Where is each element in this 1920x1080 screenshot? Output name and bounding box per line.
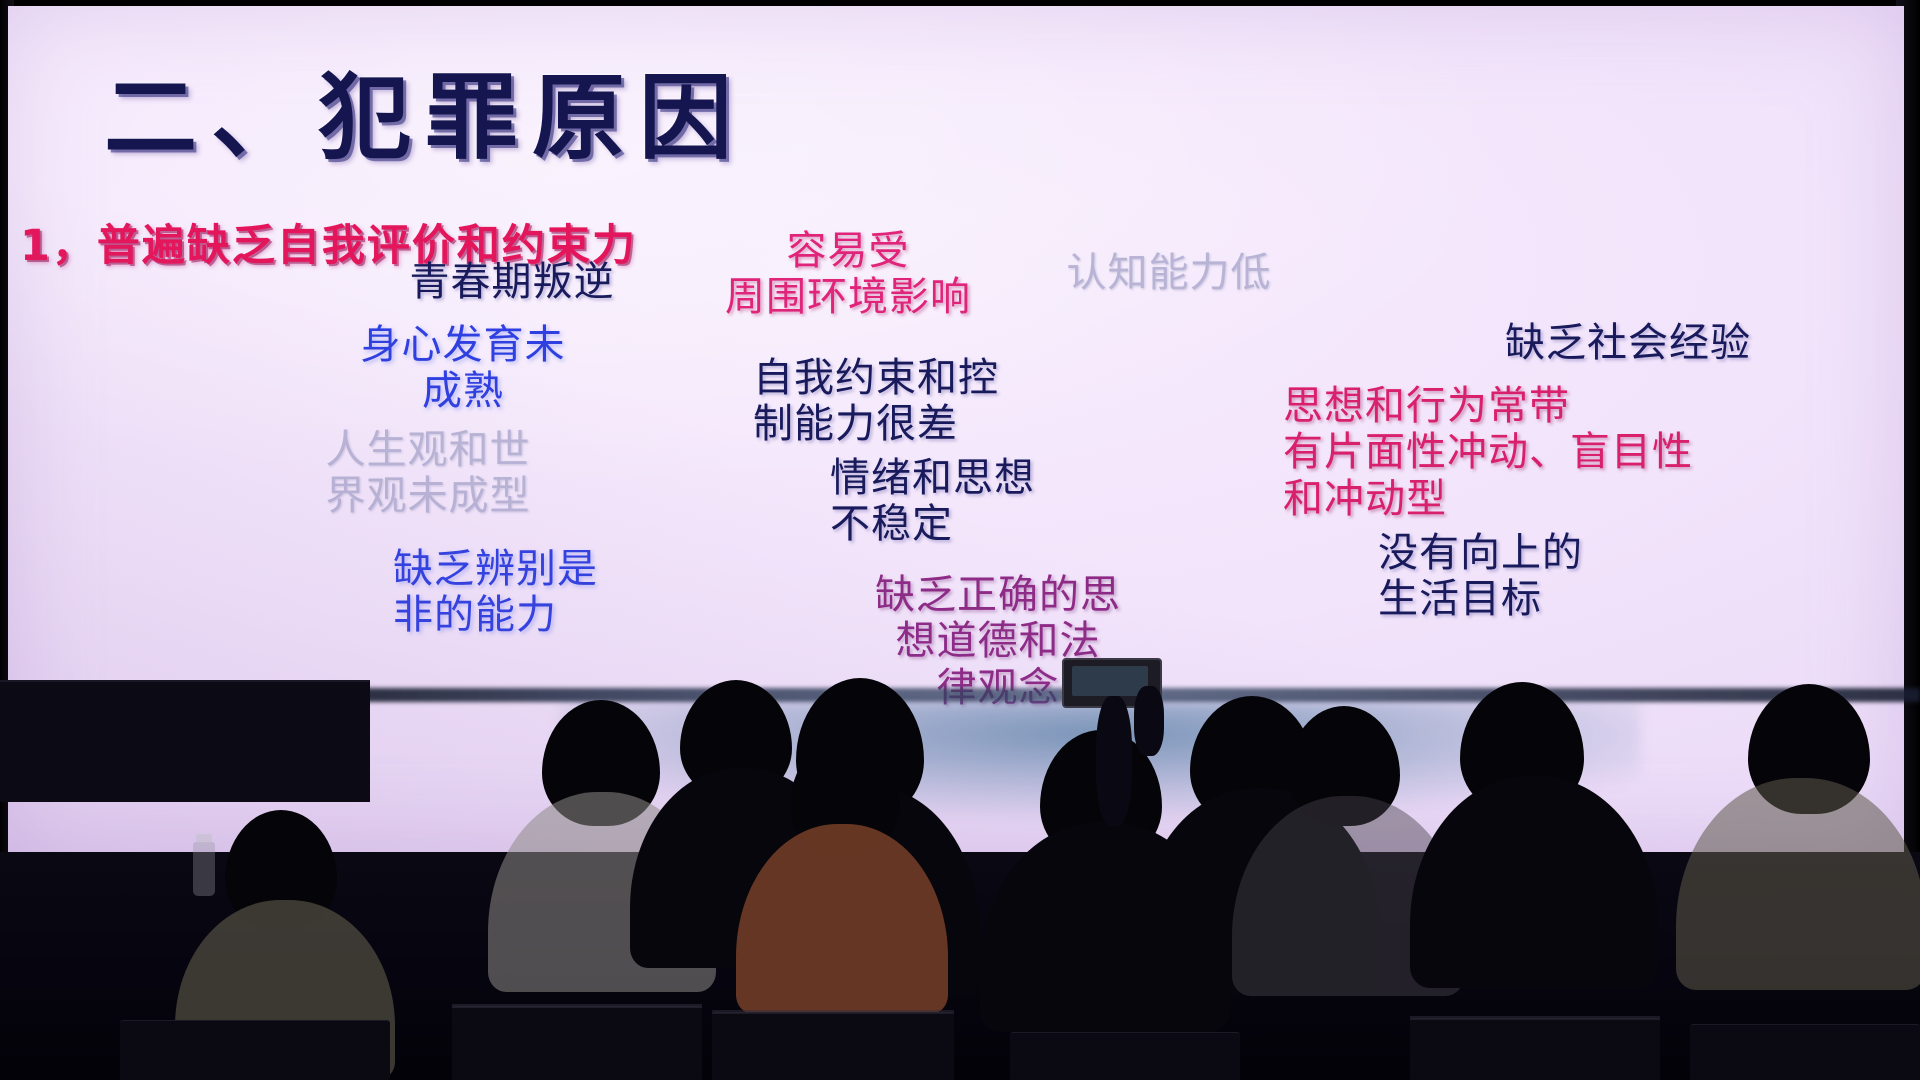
slide-item-no-life-goals: 没有向上的 生活目标: [1378, 530, 1583, 623]
chair-back: [712, 1012, 954, 1080]
slide-item-immature-development: 身心发育未 成熟: [361, 322, 566, 415]
presentation-slide: 二、犯罪原因 1，普遍缺乏自我评价和约束力 青春期叛逆 容易受 周围环境影响 认…: [8, 6, 1904, 854]
chair-back: [1690, 1024, 1920, 1080]
chair-back: [1410, 1018, 1660, 1080]
slide-item-cannot-distinguish-right-wrong: 缺乏辨别是 非的能力: [393, 546, 598, 639]
lecture-hall-photo: 二、犯罪原因 1，普遍缺乏自我评价和约束力 青春期叛逆 容易受 周围环境影响 认…: [0, 0, 1920, 1080]
chair-back: [452, 1006, 702, 1080]
chair-back: [1010, 1032, 1240, 1080]
chair-back: [120, 1020, 390, 1080]
chair-highlight: [712, 1010, 954, 1014]
darkened-foreground: [0, 852, 1920, 1080]
slide-item-low-cognition: 认知能力低: [1067, 250, 1272, 296]
slide-item-adolescent-rebellion: 青春期叛逆: [410, 259, 615, 305]
projection-screen: 二、犯罪原因 1，普遍缺乏自我评价和约束力 青春期叛逆 容易受 周围环境影响 认…: [8, 6, 1904, 854]
slide-item-unformed-worldview: 人生观和世 界观未成型: [326, 427, 531, 520]
slide-item-lacking-social-experience: 缺乏社会经验: [1505, 320, 1751, 366]
slide-item-poor-self-control: 自我约束和控 制能力很差: [753, 355, 999, 448]
chair-highlight: [1410, 1016, 1660, 1020]
slide-item-unstable-emotions: 情绪和思想 不稳定: [830, 455, 1035, 548]
slide-item-lacking-moral-legal-concepts: 缺乏正确的思 想道德和法 律观念: [875, 572, 1121, 711]
slide-title: 二、犯罪原因: [104, 42, 746, 177]
slide-item-environment-influence: 容易受 周围环境影响: [725, 228, 971, 321]
chair-highlight: [452, 1004, 702, 1008]
audience-shoulders: [175, 900, 395, 1080]
slide-item-impulsive-thinking: 思想和行为常带 有片面性冲动、盲目性 和冲动型: [1283, 383, 1693, 522]
